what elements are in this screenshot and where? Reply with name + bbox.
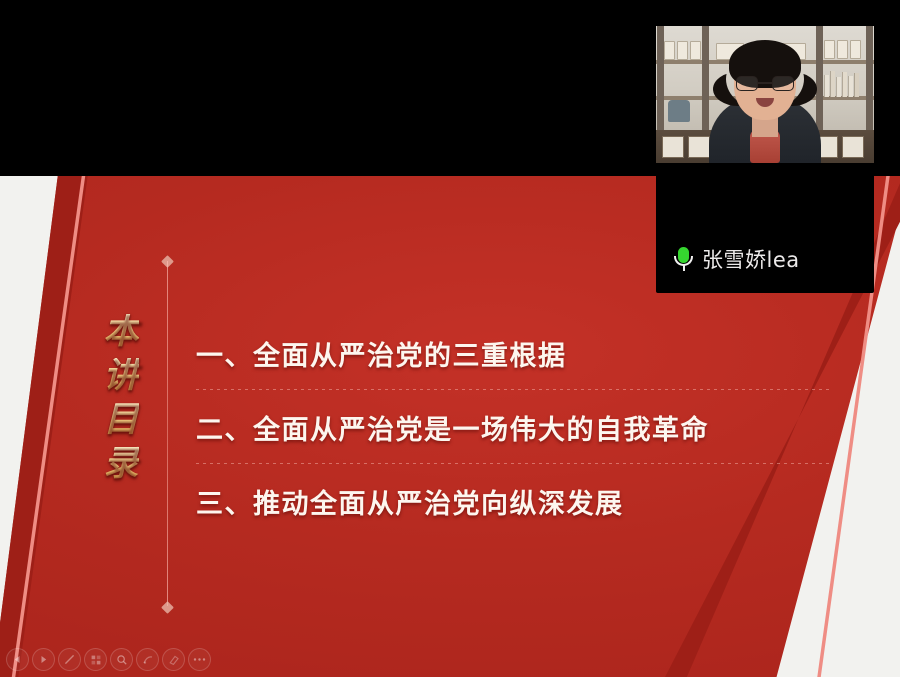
ellipsis-icon: [193, 657, 206, 662]
screen-share-window: 本 讲 目 录 一、全面从严治党的三重根据 二、全面从严治党是一场伟大的自我革命…: [0, 0, 900, 677]
glasses-lens-left: [736, 76, 758, 91]
cabinet-panel: [662, 136, 684, 158]
microphone-icon[interactable]: [674, 247, 693, 271]
agenda-item-1-text: 一、全面从严治党的三重根据: [196, 334, 567, 373]
eraser-tool-button[interactable]: [162, 648, 185, 671]
shelf-binder: [837, 40, 848, 59]
vertical-title-char-3: 目: [103, 402, 138, 437]
laser-pointer-button[interactable]: [136, 648, 159, 671]
desk-lamp: [668, 100, 690, 122]
shelf-binder: [690, 41, 701, 60]
participant-mouth: [756, 98, 774, 107]
slide-grid-button[interactable]: [84, 648, 107, 671]
shelf-binder: [824, 40, 835, 59]
previous-slide-button[interactable]: [6, 648, 29, 671]
agenda-item-2: 二、全面从严治党是一场伟大的自我革命: [196, 390, 836, 464]
vertical-divider: [167, 261, 168, 606]
shelf-book: [836, 77, 841, 97]
slide-vertical-title: 本 讲 目 录: [92, 314, 150, 481]
magnifier-icon: [116, 654, 128, 666]
participant-name-label: 张雪娇lea: [702, 244, 800, 274]
annotation-toolbar[interactable]: [6, 648, 211, 671]
pen-tool-button[interactable]: [58, 648, 81, 671]
glasses-lens-right: [772, 76, 794, 91]
shelf-book: [854, 73, 859, 97]
laser-icon: [142, 654, 154, 666]
glasses-bridge: [758, 82, 772, 84]
vertical-title-char-1: 本: [103, 314, 138, 349]
cabinet-panel: [842, 136, 864, 158]
participant-glasses: [736, 76, 794, 91]
shelf-binder: [850, 40, 861, 59]
microphone-stem: [683, 265, 685, 271]
shelf-binder: [664, 41, 675, 60]
vertical-title-char-2: 讲: [103, 358, 138, 393]
participant-video-feed: [656, 26, 874, 163]
triangle-right-icon: [39, 655, 48, 664]
eraser-icon: [168, 654, 180, 666]
participant-name-bar: 张雪娇lea: [656, 235, 874, 283]
zoom-tool-button[interactable]: [110, 648, 133, 671]
play-slide-button[interactable]: [32, 648, 55, 671]
vertical-title-char-4: 录: [103, 446, 138, 481]
agenda-item-3: 三、推动全面从严治党向纵深发展: [196, 464, 836, 538]
cabinet-panel: [688, 136, 710, 158]
participant-video-tile[interactable]: 张雪娇lea: [656, 0, 874, 293]
agenda-item-3-text: 三、推动全面从严治党向纵深发展: [196, 482, 624, 521]
agenda-item-2-text: 二、全面从严治党是一场伟大的自我革命: [196, 408, 709, 447]
pen-icon: [63, 653, 76, 666]
agenda-item-1: 一、全面从严治党的三重根据: [196, 316, 836, 390]
triangle-left-icon: [13, 655, 22, 664]
shelf-book: [824, 75, 829, 97]
more-options-button[interactable]: [188, 648, 211, 671]
shelf-book: [830, 71, 835, 97]
shelf-book: [848, 76, 853, 97]
shelf-book: [842, 72, 847, 97]
agenda-list: 一、全面从严治党的三重根据 二、全面从严治党是一场伟大的自我革命 三、推动全面从…: [196, 316, 836, 538]
shelf-binder: [677, 41, 688, 60]
grid-icon: [90, 654, 102, 666]
